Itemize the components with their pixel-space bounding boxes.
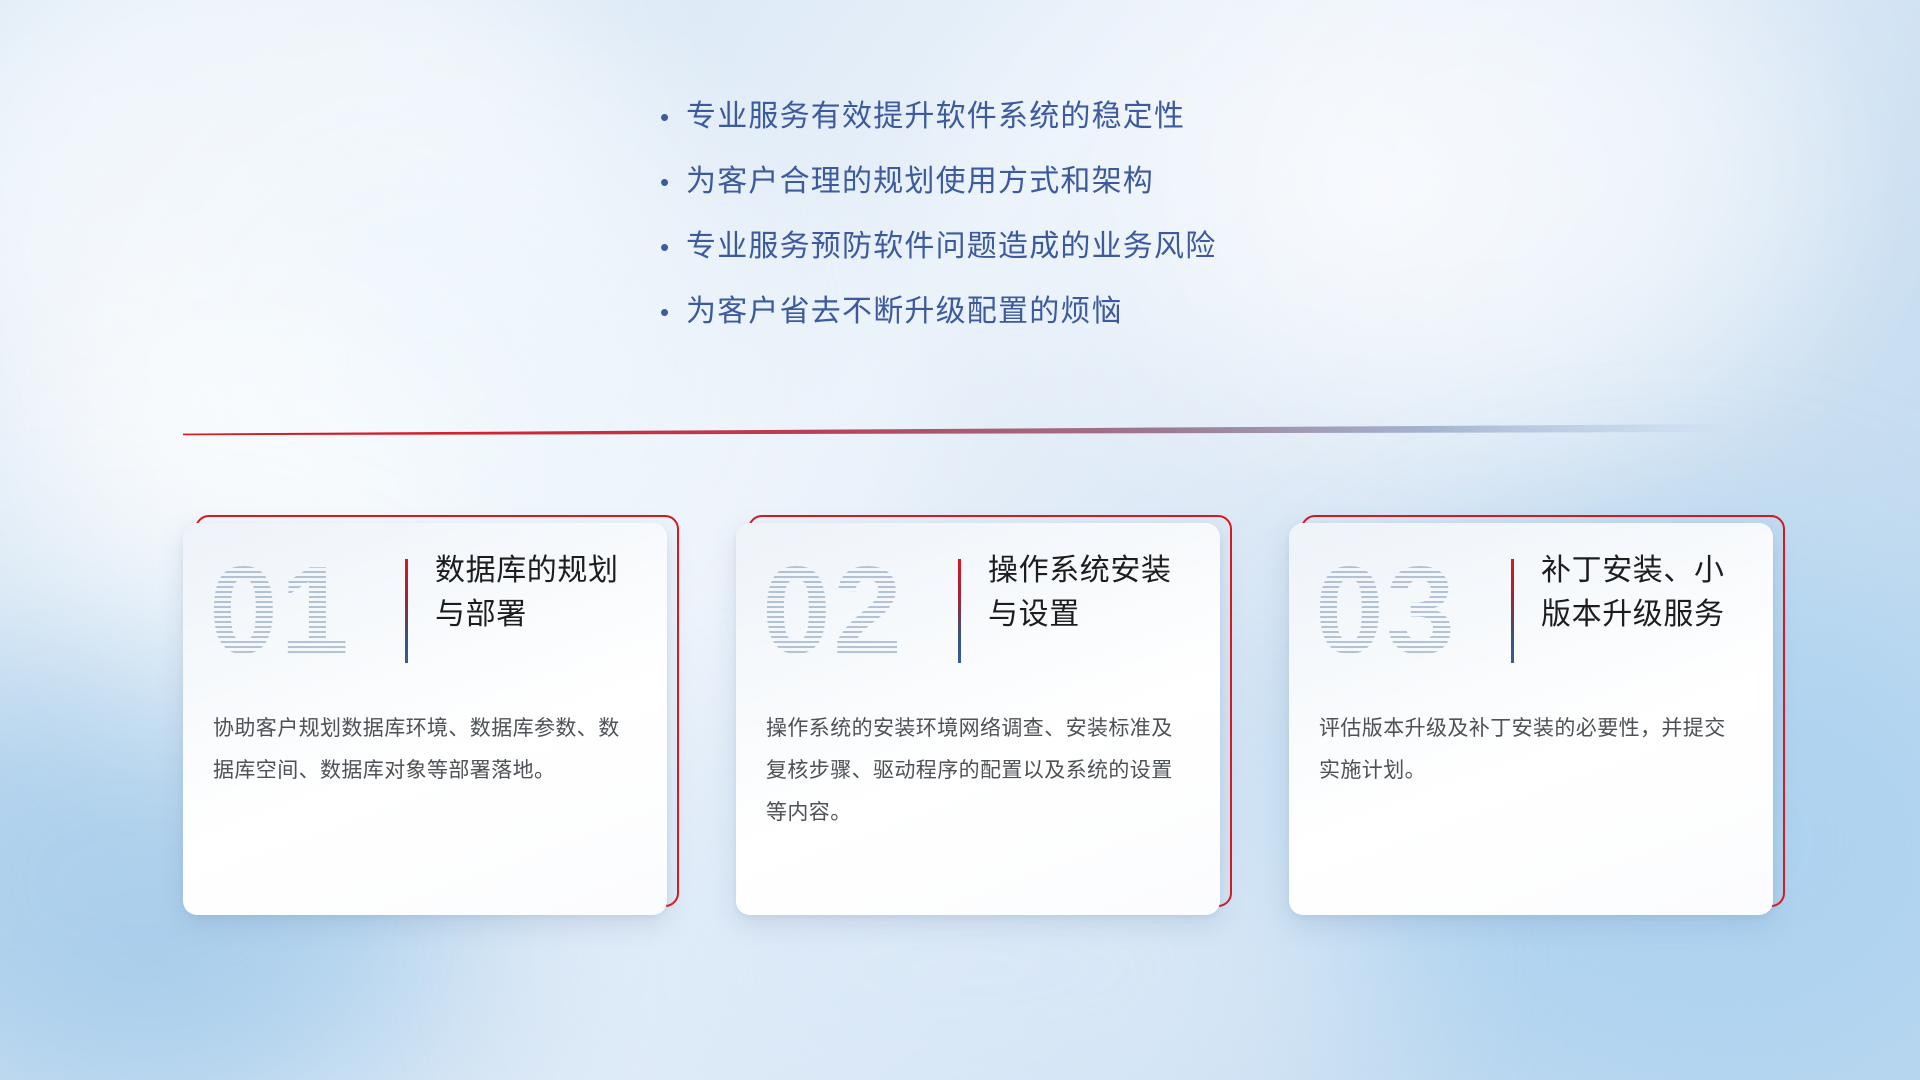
card-title-rule: [958, 559, 961, 663]
background-glow-top-left: [0, 0, 600, 460]
card-panel: 02 操作系统安装与设置 操作系统的安装环境网络调查、安装标准及复核步骤、驱动程…: [736, 523, 1220, 915]
benefits-bullet-list: • 专业服务有效提升软件系统的稳定性 • 为客户合理的规划使用方式和架构 • 专…: [660, 96, 1420, 356]
list-item: • 专业服务预防软件问题造成的业务风险: [660, 226, 1420, 291]
card-title-rule: [1511, 559, 1514, 663]
bullet-text: 为客户省去不断升级配置的烦恼: [686, 291, 1123, 333]
divider-wedge-icon: [183, 420, 1739, 442]
bullet-text: 专业服务预防软件问题造成的业务风险: [686, 226, 1216, 268]
card-title: 数据库的规划与部署: [435, 549, 647, 637]
service-card-03[interactable]: 03 补丁安装、小版本升级服务 评估版本升级及补丁安装的必要性，并提交实施计划。: [1289, 515, 1785, 915]
bullet-marker-icon: •: [660, 96, 686, 138]
card-number-watermark: 03: [1315, 541, 1485, 681]
list-item: • 为客户省去不断升级配置的烦恼: [660, 291, 1420, 356]
bullet-text: 为客户合理的规划使用方式和架构: [686, 161, 1154, 203]
card-panel: 03 补丁安装、小版本升级服务 评估版本升级及补丁安装的必要性，并提交实施计划。: [1289, 523, 1773, 915]
card-panel: 01 数据库的规划与部署 协助客户规划数据库环境、数据库参数、数据库空间、数据库…: [183, 523, 667, 915]
service-card-group: 01 数据库的规划与部署 协助客户规划数据库环境、数据库参数、数据库空间、数据库…: [183, 515, 1743, 915]
card-title: 补丁安装、小版本升级服务: [1541, 549, 1753, 637]
card-header: 01 数据库的规划与部署: [183, 523, 667, 698]
bullet-marker-icon: •: [660, 161, 686, 203]
card-title: 操作系统安装与设置: [988, 549, 1200, 637]
list-item: • 为客户合理的规划使用方式和架构: [660, 161, 1420, 226]
bullet-text: 专业服务有效提升软件系统的稳定性: [686, 96, 1185, 138]
card-number-watermark: 01: [209, 541, 379, 681]
bullet-marker-icon: •: [660, 226, 686, 268]
bullet-marker-icon: •: [660, 291, 686, 333]
card-header: 02 操作系统安装与设置: [736, 523, 1220, 698]
card-title-rule: [405, 559, 408, 663]
service-card-01[interactable]: 01 数据库的规划与部署 协助客户规划数据库环境、数据库参数、数据库空间、数据库…: [183, 515, 679, 915]
card-header: 03 补丁安装、小版本升级服务: [1289, 523, 1773, 698]
card-description: 操作系统的安装环境网络调查、安装标准及复核步骤、驱动程序的配置以及系统的设置等内…: [766, 708, 1190, 834]
card-description: 评估版本升级及补丁安装的必要性，并提交实施计划。: [1319, 708, 1743, 792]
service-card-02[interactable]: 02 操作系统安装与设置 操作系统的安装环境网络调查、安装标准及复核步骤、驱动程…: [736, 515, 1232, 915]
section-divider: [183, 420, 1739, 442]
list-item: • 专业服务有效提升软件系统的稳定性: [660, 96, 1420, 161]
card-description: 协助客户规划数据库环境、数据库参数、数据库空间、数据库对象等部署落地。: [213, 708, 637, 792]
slide-canvas: • 专业服务有效提升软件系统的稳定性 • 为客户合理的规划使用方式和架构 • 专…: [0, 0, 1920, 1080]
card-number-watermark: 02: [762, 541, 932, 681]
